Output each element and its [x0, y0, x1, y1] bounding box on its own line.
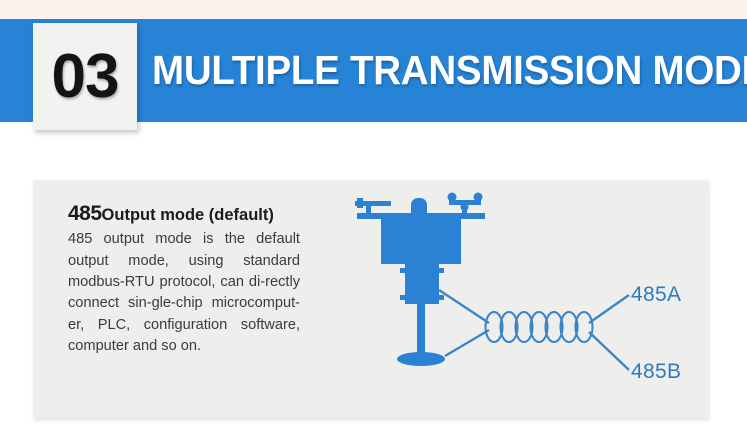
wire-lower-left [445, 330, 489, 356]
module-bracket-tl-icon [400, 268, 406, 273]
anemometer-hub-icon [461, 203, 469, 211]
module-bracket-bl-icon [400, 295, 406, 300]
anemometer-cup-right-icon [474, 193, 483, 202]
wind-vane-tail-icon [357, 198, 363, 208]
wind-vane-post-icon [366, 201, 371, 215]
transmission-diagram: 485A 485B [333, 180, 708, 418]
top-accent-strip [0, 0, 747, 19]
cable-coil-icon [486, 312, 593, 342]
module-bracket-tr-icon [438, 268, 444, 273]
section-number: 03 [52, 46, 119, 108]
mode-heading-rest: Output mode (default) [102, 206, 274, 224]
text-column: 485Output mode (default) 485 output mode… [68, 202, 308, 358]
module-bracket-br-icon [438, 295, 444, 300]
wire-upper-left [439, 290, 489, 323]
label-485b: 485B [631, 360, 681, 384]
mode-heading-prefix: 485 [68, 202, 102, 225]
wire-to-485b [589, 332, 629, 370]
mode-description: 485 output mode is the default output mo… [68, 229, 300, 358]
main-housing-icon [381, 219, 461, 264]
mast-pole-icon [417, 304, 425, 356]
anemometer-cup-left-icon [448, 193, 457, 202]
instrument-module-icon [405, 264, 439, 304]
mode-heading: 485Output mode (default) [68, 202, 308, 226]
rain-gauge-icon [411, 198, 427, 220]
section-number-badge: 03 [33, 23, 137, 130]
instrument-module-group [400, 264, 444, 304]
base-plate-icon [397, 352, 445, 366]
sensor-arm-group [355, 193, 485, 221]
content-panel: 485Output mode (default) 485 output mode… [33, 180, 708, 418]
label-485a: 485A [631, 283, 681, 307]
page-title: MULTIPLE TRANSMISSION MODES [152, 19, 747, 122]
wire-to-485a [589, 295, 629, 323]
